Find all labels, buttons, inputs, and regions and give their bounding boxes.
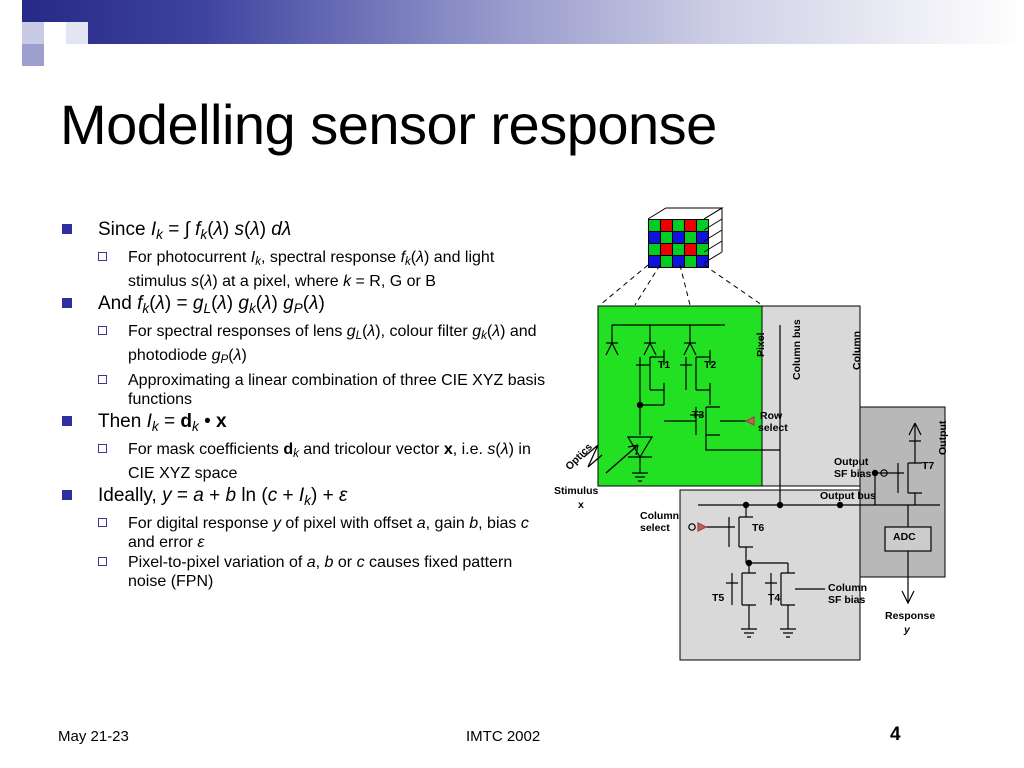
header-square-4 bbox=[22, 44, 44, 66]
sub-spectral-responses: For spectral responses of lens gL(λ), co… bbox=[52, 322, 552, 370]
bullet-ideally: Ideally, y = a + b ln (c + Ik) + ε bbox=[52, 484, 552, 512]
bullet-since-text: Since Ik = ∫ fk(λ) s(λ) dλ bbox=[98, 219, 291, 240]
header-gradient-bar bbox=[22, 0, 1024, 44]
header-square-3 bbox=[44, 22, 66, 44]
footer-date: May 21-23 bbox=[58, 728, 129, 745]
label-column: Column bbox=[852, 331, 863, 370]
bullet-marker-square bbox=[62, 416, 72, 426]
header-square-5 bbox=[44, 44, 66, 66]
label-t3: T3 bbox=[692, 410, 704, 421]
footer-conference: IMTC 2002 bbox=[466, 728, 540, 745]
label-t6: T6 bbox=[752, 523, 764, 534]
page-number: 4 bbox=[890, 724, 901, 746]
bullet-marker-hollow bbox=[98, 557, 107, 566]
bullet-marker-hollow bbox=[98, 518, 107, 527]
bullet-then: Then Ik = dk • x bbox=[52, 410, 552, 438]
sub-mask-coefficients-text: For mask coefficients dk and tricolour v… bbox=[128, 441, 531, 482]
bullet-marker-hollow bbox=[98, 375, 107, 384]
bullet-then-text: Then Ik = dk • x bbox=[98, 411, 227, 432]
bullet-marker-square bbox=[62, 490, 72, 500]
header-decoration bbox=[0, 0, 1024, 62]
label-output-sf-bias-line1: Output bbox=[834, 457, 868, 468]
bullet-and-text: And fk(λ) = gL(λ) gk(λ) gP(λ) bbox=[98, 293, 325, 314]
label-column-select-line1: Column bbox=[640, 511, 679, 522]
bullet-marker-hollow bbox=[98, 444, 107, 453]
page-title: Modelling sensor response bbox=[60, 92, 960, 157]
label-column-bus: Column bus bbox=[792, 319, 803, 380]
sensor-circuit-diagram: Pixel Column bus Column Output T1 T2 T3 … bbox=[540, 205, 1010, 665]
column-block bbox=[680, 490, 860, 660]
label-output-bus: Output bus bbox=[820, 491, 876, 502]
label-column-sf-bias-line2: SF bias bbox=[828, 595, 865, 606]
label-pixel: Pixel bbox=[756, 332, 767, 357]
label-stimulus-line2: x bbox=[578, 500, 584, 511]
bullet-marker-hollow bbox=[98, 326, 107, 335]
label-t2: T2 bbox=[704, 360, 716, 371]
sub-spectral-responses-text: For spectral responses of lens gL(λ), co… bbox=[128, 323, 537, 364]
bullet-marker-square bbox=[62, 224, 72, 234]
sub-photocurrent-text: For photocurrent Ik, spectral response f… bbox=[128, 249, 494, 290]
header-square-6 bbox=[66, 22, 88, 44]
label-t4: T4 bbox=[768, 593, 780, 604]
label-response-line1: Response bbox=[885, 611, 935, 622]
bullet-marker-square bbox=[62, 298, 72, 308]
label-column-select-line2: select bbox=[640, 523, 670, 534]
bullet-and: And fk(λ) = gL(λ) gk(λ) gP(λ) bbox=[52, 292, 552, 320]
label-t5: T5 bbox=[712, 593, 724, 604]
sub-linear-combination-text: Approximating a linear combination of th… bbox=[128, 372, 545, 408]
sub-digital-response-text: For digital response y of pixel with off… bbox=[128, 515, 529, 551]
label-stimulus-line1: Stimulus bbox=[554, 486, 598, 497]
label-output: Output bbox=[938, 421, 949, 455]
bullet-marker-hollow bbox=[98, 252, 107, 261]
label-column-sf-bias-line1: Column bbox=[828, 583, 867, 594]
label-response-line2: y bbox=[904, 625, 910, 636]
label-adc: ADC bbox=[893, 532, 916, 543]
sub-fpn-text: Pixel-to-pixel variation of a, b or c ca… bbox=[128, 554, 512, 590]
sub-fpn: Pixel-to-pixel variation of a, b or c ca… bbox=[52, 553, 552, 591]
header-square-1 bbox=[0, 0, 22, 22]
sub-linear-combination: Approximating a linear combination of th… bbox=[52, 371, 552, 409]
label-t1: T1 bbox=[658, 360, 670, 371]
header-square-2 bbox=[22, 22, 44, 44]
bullet-since: Since Ik = ∫ fk(λ) s(λ) dλ bbox=[52, 218, 552, 246]
bullet-ideally-text: Ideally, y = a + b ln (c + Ik) + ε bbox=[98, 485, 347, 506]
sub-mask-coefficients: For mask coefficients dk and tricolour v… bbox=[52, 440, 552, 483]
label-output-sf-bias-line2: SF bias bbox=[834, 469, 871, 480]
label-row-select-line1: Row bbox=[760, 411, 782, 422]
label-row-select-line2: select bbox=[758, 423, 788, 434]
sub-digital-response: For digital response y of pixel with off… bbox=[52, 514, 552, 552]
sub-photocurrent: For photocurrent Ik, spectral response f… bbox=[52, 248, 552, 291]
bullet-list: Since Ik = ∫ fk(λ) s(λ) dλFor photocurre… bbox=[52, 218, 552, 592]
label-t7: T7 bbox=[922, 461, 934, 472]
